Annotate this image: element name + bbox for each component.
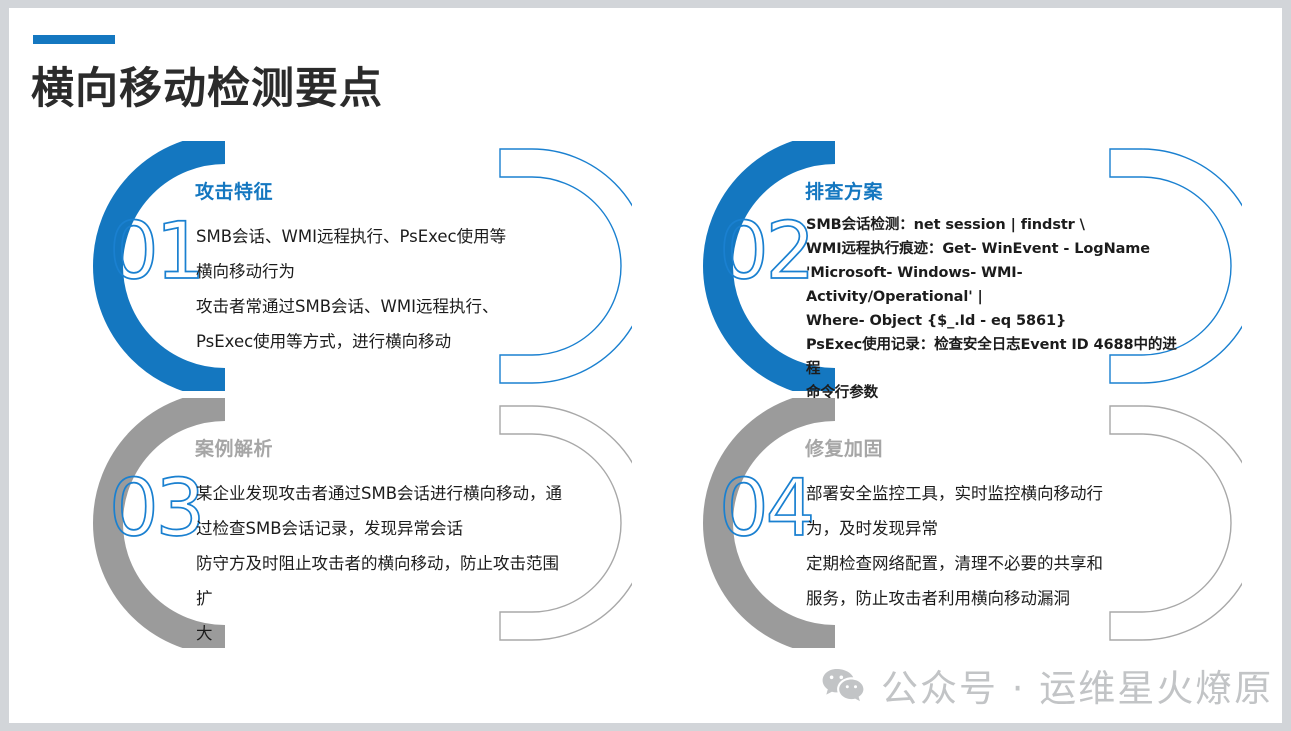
card-number: 01 — [109, 213, 202, 291]
card-03[interactable]: 03 案例解析 某企业发现攻击者通过SMB会话进行横向移动，通 过检查SMB会话… — [87, 398, 632, 648]
card-01[interactable]: 01 攻击特征 SMB会话、WMI远程执行、PsExec使用等 横向移动行为 攻… — [87, 141, 632, 391]
card-04[interactable]: 04 修复加固 部署安全监控工具，实时监控横向移动行 为，及时发现异常 定期检查… — [697, 398, 1242, 648]
slide-canvas: 横向移动检测要点 01 攻击特征 SMB会话、WMI远程执行、PsExec使用等… — [9, 8, 1282, 723]
card-heading: 案例解析 — [195, 434, 273, 461]
card-number: 02 — [719, 213, 812, 291]
card-body-text: SMB会话检测：net session | findstr \ WMI远程执行痕… — [806, 213, 1178, 405]
card-body-text: 部署安全监控工具，实时监控横向移动行 为，及时发现异常 定期检查网络配置，清理不… — [806, 476, 1156, 616]
slide-frame: 横向移动检测要点 01 攻击特征 SMB会话、WMI远程执行、PsExec使用等… — [0, 0, 1291, 731]
card-heading: 修复加固 — [805, 434, 883, 461]
watermark-text: 公众号 · 运维星火燎原 — [881, 658, 1273, 712]
card-body-text: SMB会话、WMI远程执行、PsExec使用等 横向移动行为 攻击者常通过SMB… — [196, 219, 574, 359]
card-heading: 攻击特征 — [195, 177, 273, 204]
wechat-icon — [821, 667, 865, 703]
page-title: 横向移动检测要点 — [31, 54, 383, 116]
card-number: 04 — [719, 470, 812, 548]
card-body-text: 某企业发现攻击者通过SMB会话进行横向移动，通 过检查SMB会话记录，发现异常会… — [196, 476, 574, 651]
card-heading: 排查方案 — [805, 177, 883, 204]
card-02[interactable]: 02 排查方案 SMB会话检测：net session | findstr \ … — [697, 141, 1242, 391]
card-number: 03 — [109, 470, 202, 548]
title-accent-bar — [33, 35, 115, 44]
watermark: 公众号 · 运维星火燎原 — [821, 658, 1273, 712]
